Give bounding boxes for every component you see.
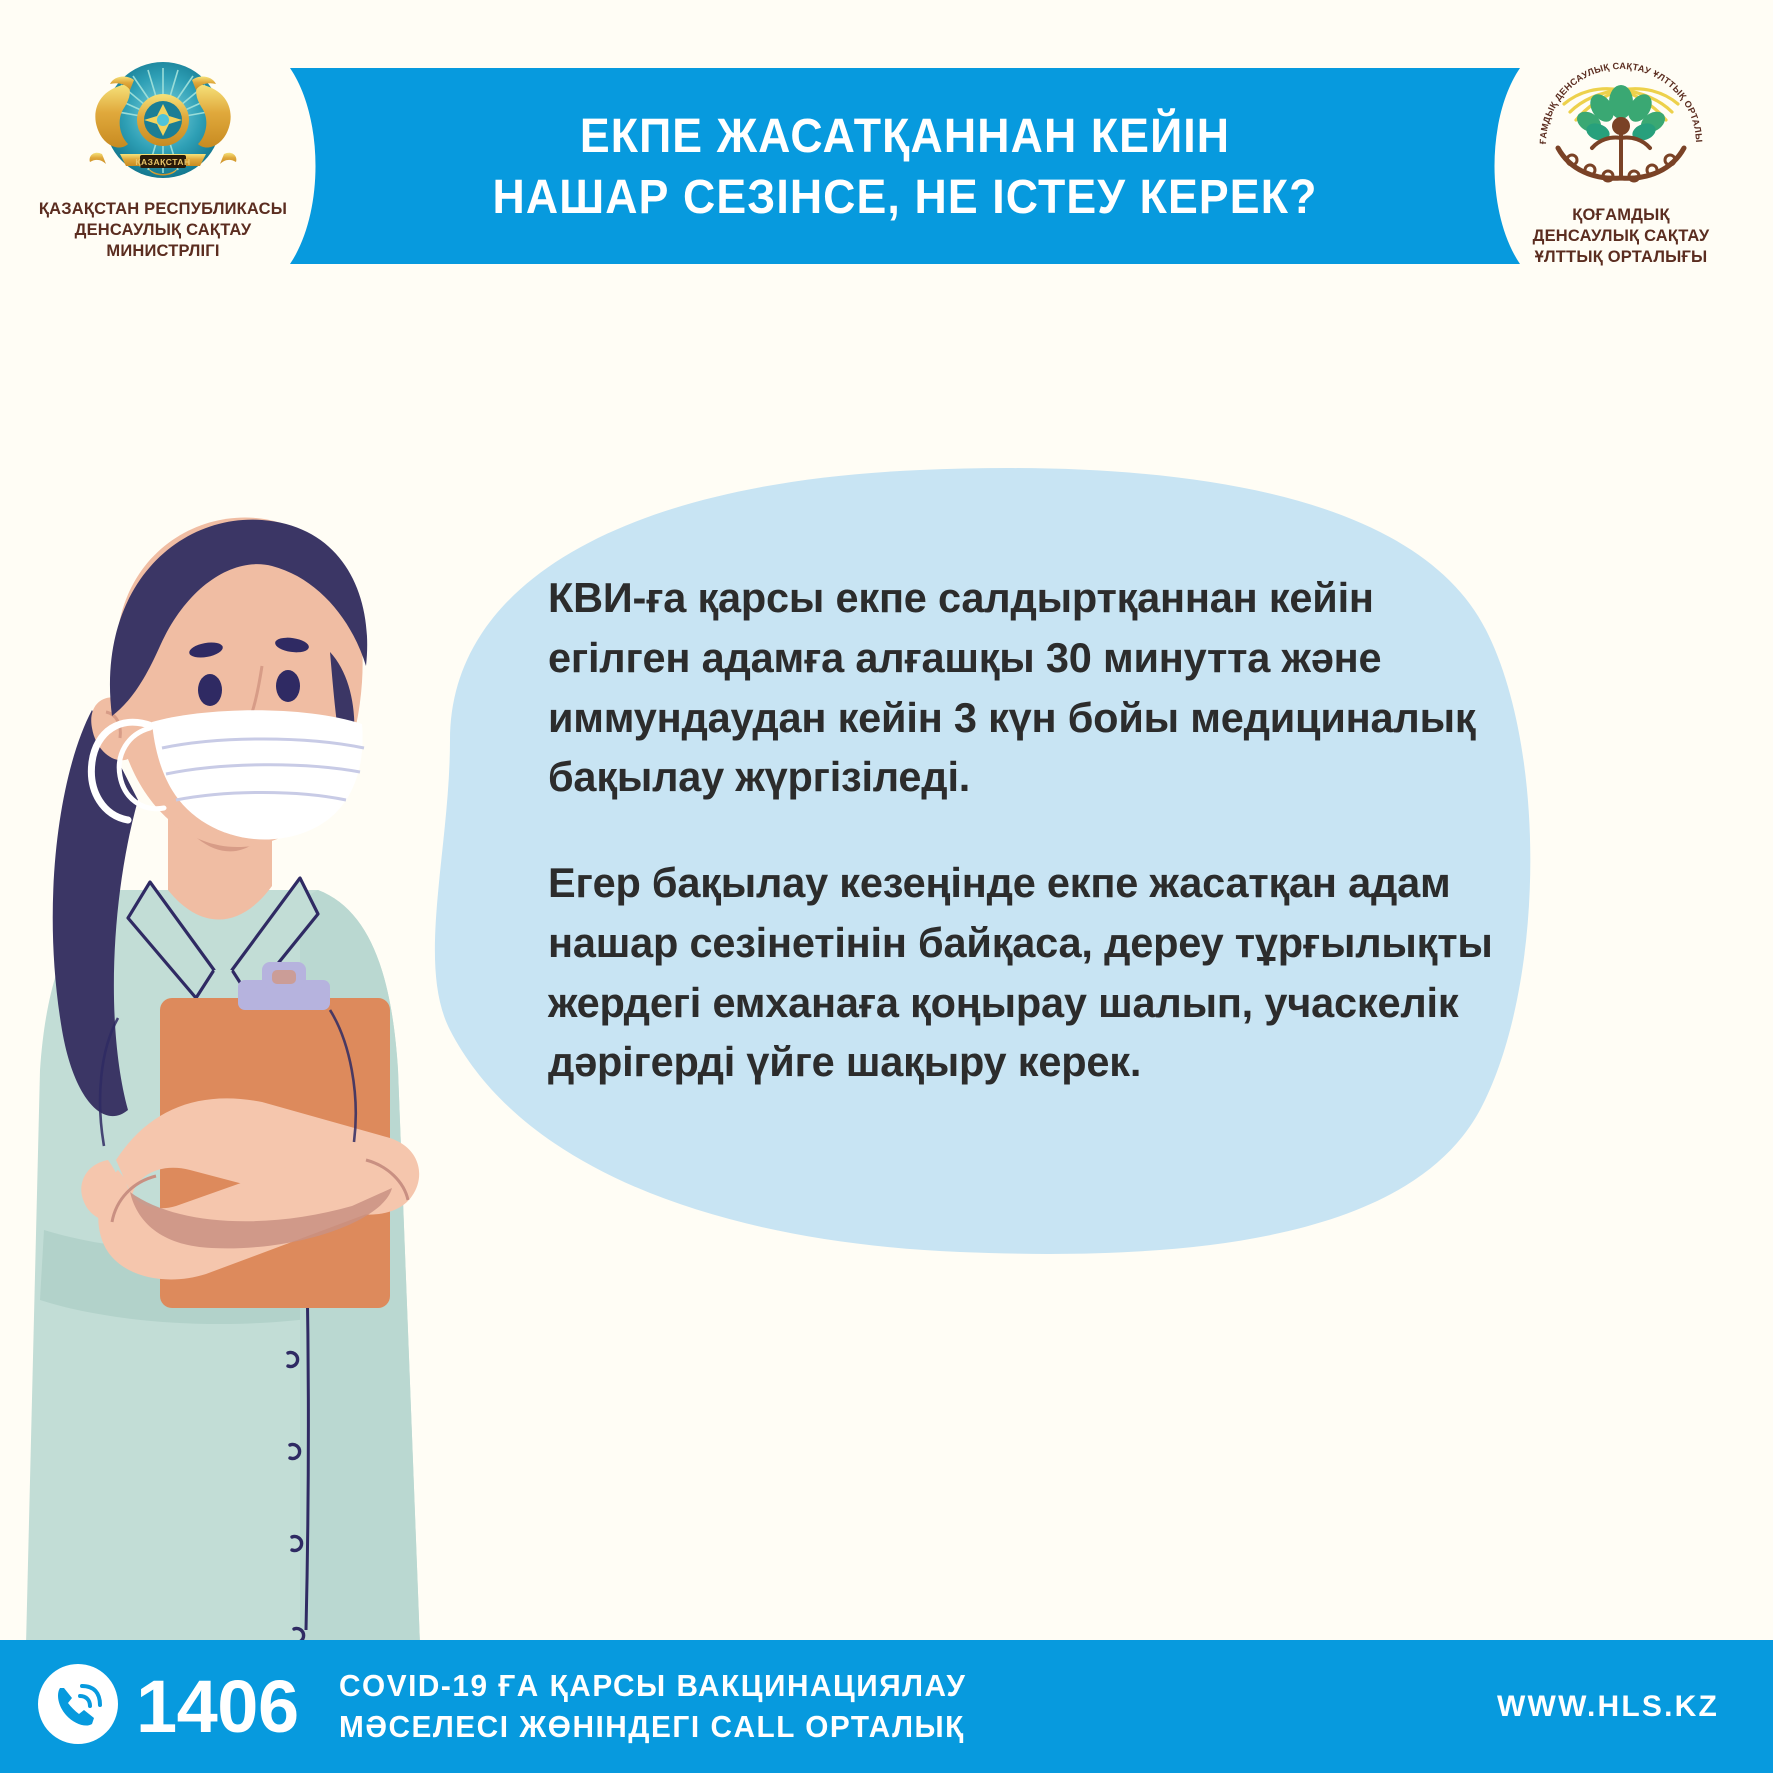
page-title: ЕКПЕ ЖАСАТҚАННАН КЕЙІН НАШАР СЕЗІНСЕ, НЕ…: [370, 92, 1440, 242]
phc-caption-line-1: ҚОҒАМДЫҚ: [1486, 205, 1756, 226]
public-health-logo-caption: ҚОҒАМДЫҚ ДЕНСАУЛЫҚ САҚТАУ ҰЛТТЫҚ ОРТАЛЫҒ…: [1486, 205, 1756, 268]
hotline-description-line-2: МӘСЕЛЕСІ ЖӨНІНДЕГІ CALL ОРТАЛЫҚ: [339, 1707, 966, 1748]
ministry-caption-line-1: ҚАЗАҚСТАН РЕСПУБЛИКАСЫ: [28, 199, 298, 220]
svg-text:ҚАЗАҚСТАН: ҚАЗАҚСТАН: [135, 157, 190, 167]
nurse-illustration: [0, 470, 520, 1645]
main-message: КВИ-ға қарсы екпе салдыртқаннан кейін ег…: [548, 568, 1508, 1092]
hotline-description-line-1: COVID-19 ҒА ҚАРСЫ ВАКЦИНАЦИЯЛАУ: [339, 1666, 966, 1707]
ministry-logo-caption: ҚАЗАҚСТАН РЕСПУБЛИКАСЫ ДЕНСАУЛЫҚ САҚТАУ …: [28, 199, 298, 262]
website-url[interactable]: WWW.HLS.KZ: [1497, 1690, 1719, 1724]
kazakhstan-state-emblem-icon: ҚАЗАҚСТАН: [28, 58, 298, 186]
ministry-caption-line-2: ДЕНСАУЛЫҚ САҚТАУ: [28, 220, 298, 241]
phc-caption-line-3: ҰЛТТЫҚ ОРТАЛЫҒЫ: [1486, 247, 1756, 268]
phc-caption-line-2: ДЕНСАУЛЫҚ САҚТАУ: [1486, 226, 1756, 247]
footer-bar: 1406 COVID-19 ҒА ҚАРСЫ ВАКЦИНАЦИЯЛАУ МӘС…: [0, 1640, 1773, 1773]
ministry-caption-line-3: МИНИСТРЛІГІ: [28, 241, 298, 262]
ministry-of-health-logo: ҚАЗАҚСТАН ҚАЗАҚСТАН РЕСПУБЛИКАСЫ ДЕНСАУЛ…: [28, 58, 298, 262]
hotline-number[interactable]: 1406: [136, 1670, 299, 1744]
page-title-line-1: ЕКПЕ ЖАСАТҚАННАН КЕЙІН: [580, 106, 1230, 167]
hotline-description: COVID-19 ҒА ҚАРСЫ ВАКЦИНАЦИЯЛАУ МӘСЕЛЕСІ…: [339, 1666, 966, 1748]
public-health-center-emblem-icon: ҚОҒАМДЫҚ ДЕНСАУЛЫҚ САҚТАУ ҰЛТТЫҚ ОРТАЛЫҒ…: [1486, 52, 1756, 192]
page-title-line-2: НАШАР СЕЗІНСЕ, НЕ ІСТЕУ КЕРЕК?: [493, 167, 1318, 228]
header: ҚАЗАҚСТАН ҚАЗАҚСТАН РЕСПУБЛИКАСЫ ДЕНСАУЛ…: [0, 0, 1773, 300]
paragraph-1: КВИ-ға қарсы екпе салдыртқаннан кейін ег…: [548, 568, 1508, 807]
infographic-poster: ҚАЗАҚСТАН ҚАЗАҚСТАН РЕСПУБЛИКАСЫ ДЕНСАУЛ…: [0, 0, 1773, 1773]
public-health-center-logo: ҚОҒАМДЫҚ ДЕНСАУЛЫҚ САҚТАУ ҰЛТТЫҚ ОРТАЛЫҒ…: [1486, 52, 1756, 268]
phone-call-icon: [34, 1660, 122, 1753]
paragraph-2: Егер бақылау кезеңінде екпе жасатқан ада…: [548, 853, 1508, 1092]
